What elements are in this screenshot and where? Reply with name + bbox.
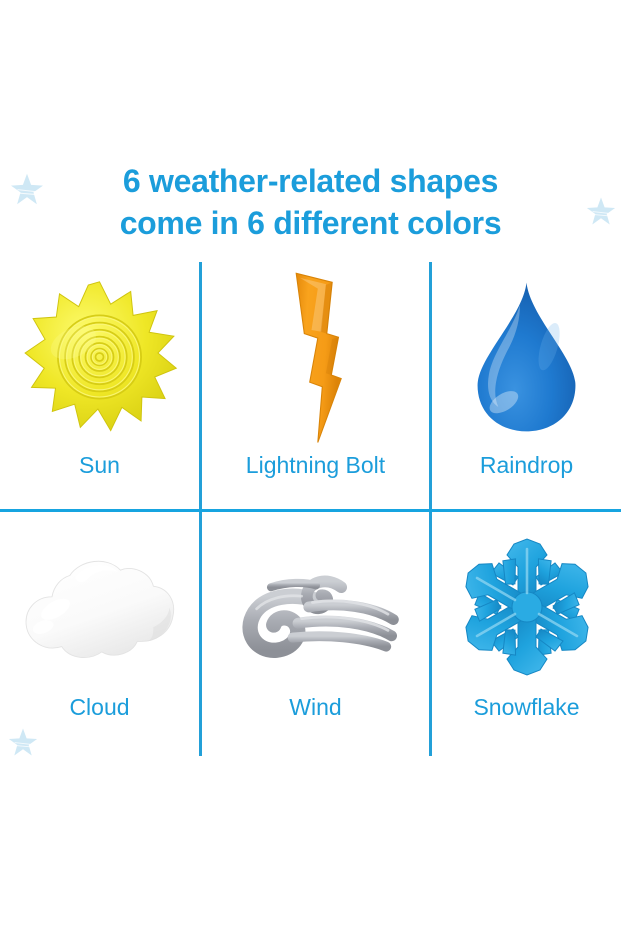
snowflake-shape-box (432, 512, 621, 702)
cell-label-wind: Wind (289, 694, 341, 721)
headline: 6 weather-related shapes come in 6 diffe… (0, 160, 621, 244)
wind-icon (226, 552, 406, 662)
grid-cell-sun: Sun (0, 262, 199, 509)
grid-cell-raindrop: Raindrop (432, 262, 621, 509)
cell-label-cloud: Cloud (69, 694, 129, 721)
raindrop-shape-box (432, 262, 621, 452)
shapes-grid: Sun (0, 262, 621, 756)
grid-cell-lightning-bolt: Lightning Bolt (202, 262, 429, 509)
sun-shape-box (0, 262, 199, 452)
wind-shape-box (202, 512, 429, 702)
cell-label-snowflake: Snowflake (473, 694, 579, 721)
headline-line-2: come in 6 different colors (0, 202, 621, 244)
cell-label-raindrop: Raindrop (480, 452, 573, 479)
cell-label-lightning-bolt: Lightning Bolt (246, 452, 385, 479)
snowflake-icon (457, 536, 597, 678)
headline-line-1: 6 weather-related shapes (0, 160, 621, 202)
grid-cell-snowflake: Snowflake (432, 512, 621, 759)
sun-icon (17, 277, 182, 437)
grid-cell-wind: Wind (202, 512, 429, 759)
product-infographic: 6 weather-related shapes come in 6 diffe… (0, 0, 621, 931)
cloud-shape-box (0, 512, 199, 702)
raindrop-icon (469, 277, 584, 437)
lightning-bolt-shape-box (202, 262, 429, 452)
lightning-bolt-icon (275, 267, 357, 447)
grid-cell-cloud: Cloud (0, 512, 199, 759)
cloud-icon (20, 545, 180, 670)
cell-label-sun: Sun (79, 452, 120, 479)
